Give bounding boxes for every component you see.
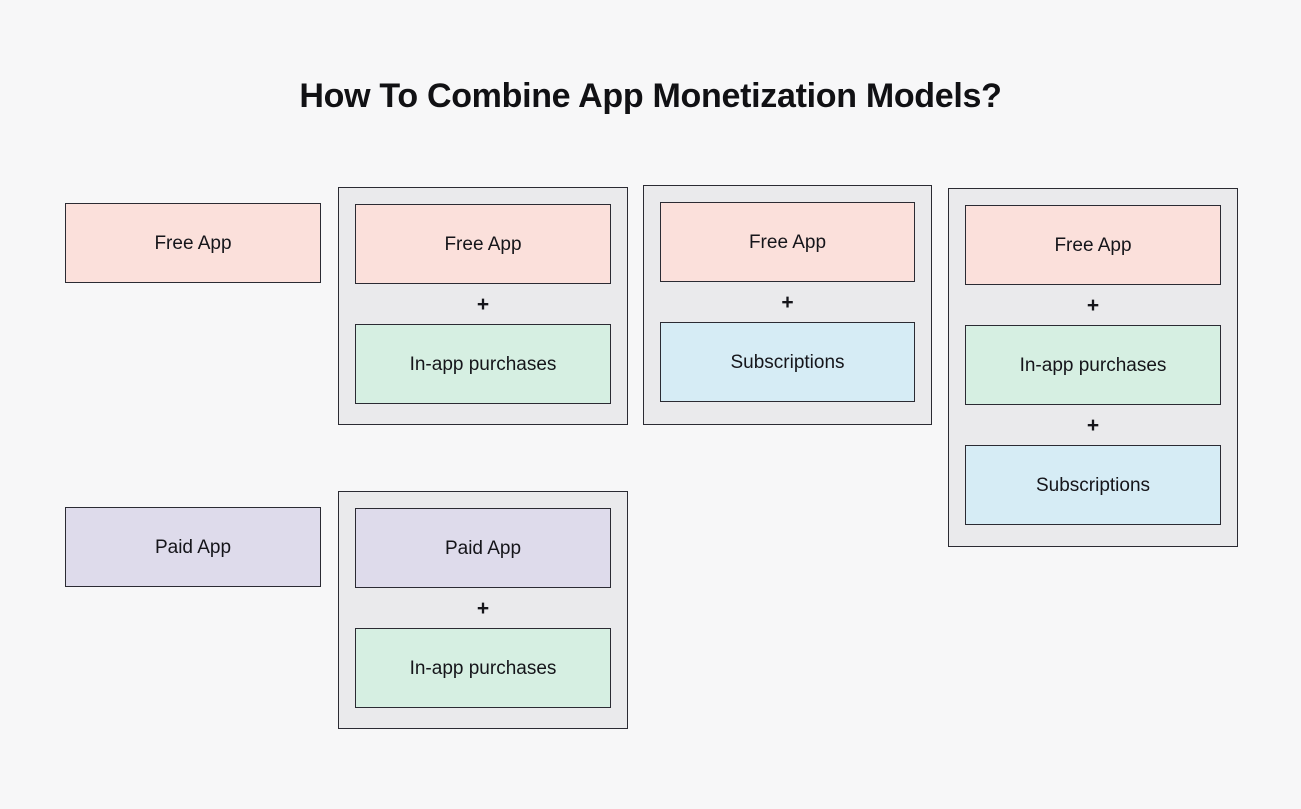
plus-icon: + [965,405,1221,445]
plus-icon: + [965,285,1221,325]
model-box-label: Free App [749,233,826,252]
model-box-label: In-app purchases [410,659,557,678]
plus-icon: + [355,588,611,628]
model-box-subscriptions: Subscriptions [660,322,915,402]
model-box-free-app: Free App [355,204,611,284]
model-box-label: In-app purchases [410,355,557,374]
model-box-in-app-purchases: In-app purchases [965,325,1221,405]
model-box-paid-app: Paid App [355,508,611,588]
plus-icon: + [660,282,915,322]
combo-group-free-app-in-app-purchases-subscriptions: Free App + In-app purchases + Subscripti… [948,188,1238,547]
model-box-label: Paid App [445,539,521,558]
model-box-in-app-purchases: In-app purchases [355,324,611,404]
model-box-label: Free App [154,234,231,253]
model-box-label: Free App [1054,236,1131,255]
model-box-subscriptions: Subscriptions [965,445,1221,525]
model-box-in-app-purchases: In-app purchases [355,628,611,708]
model-box-label: Subscriptions [1036,476,1150,495]
combo-group-free-app-subscriptions: Free App + Subscriptions [643,185,932,425]
model-box-label: In-app purchases [1020,356,1167,375]
model-box-paid-app: Paid App [65,507,321,587]
model-box-label: Paid App [155,538,231,557]
model-box-free-app: Free App [965,205,1221,285]
model-box-label: Subscriptions [730,353,844,372]
plus-icon: + [355,284,611,324]
model-box-free-app: Free App [65,203,321,283]
combo-group-free-app-in-app-purchases: Free App + In-app purchases [338,187,628,425]
combo-group-paid-app-in-app-purchases: Paid App + In-app purchases [338,491,628,729]
model-box-label: Free App [444,235,521,254]
model-box-free-app: Free App [660,202,915,282]
page-title: How To Combine App Monetization Models? [0,72,1301,120]
